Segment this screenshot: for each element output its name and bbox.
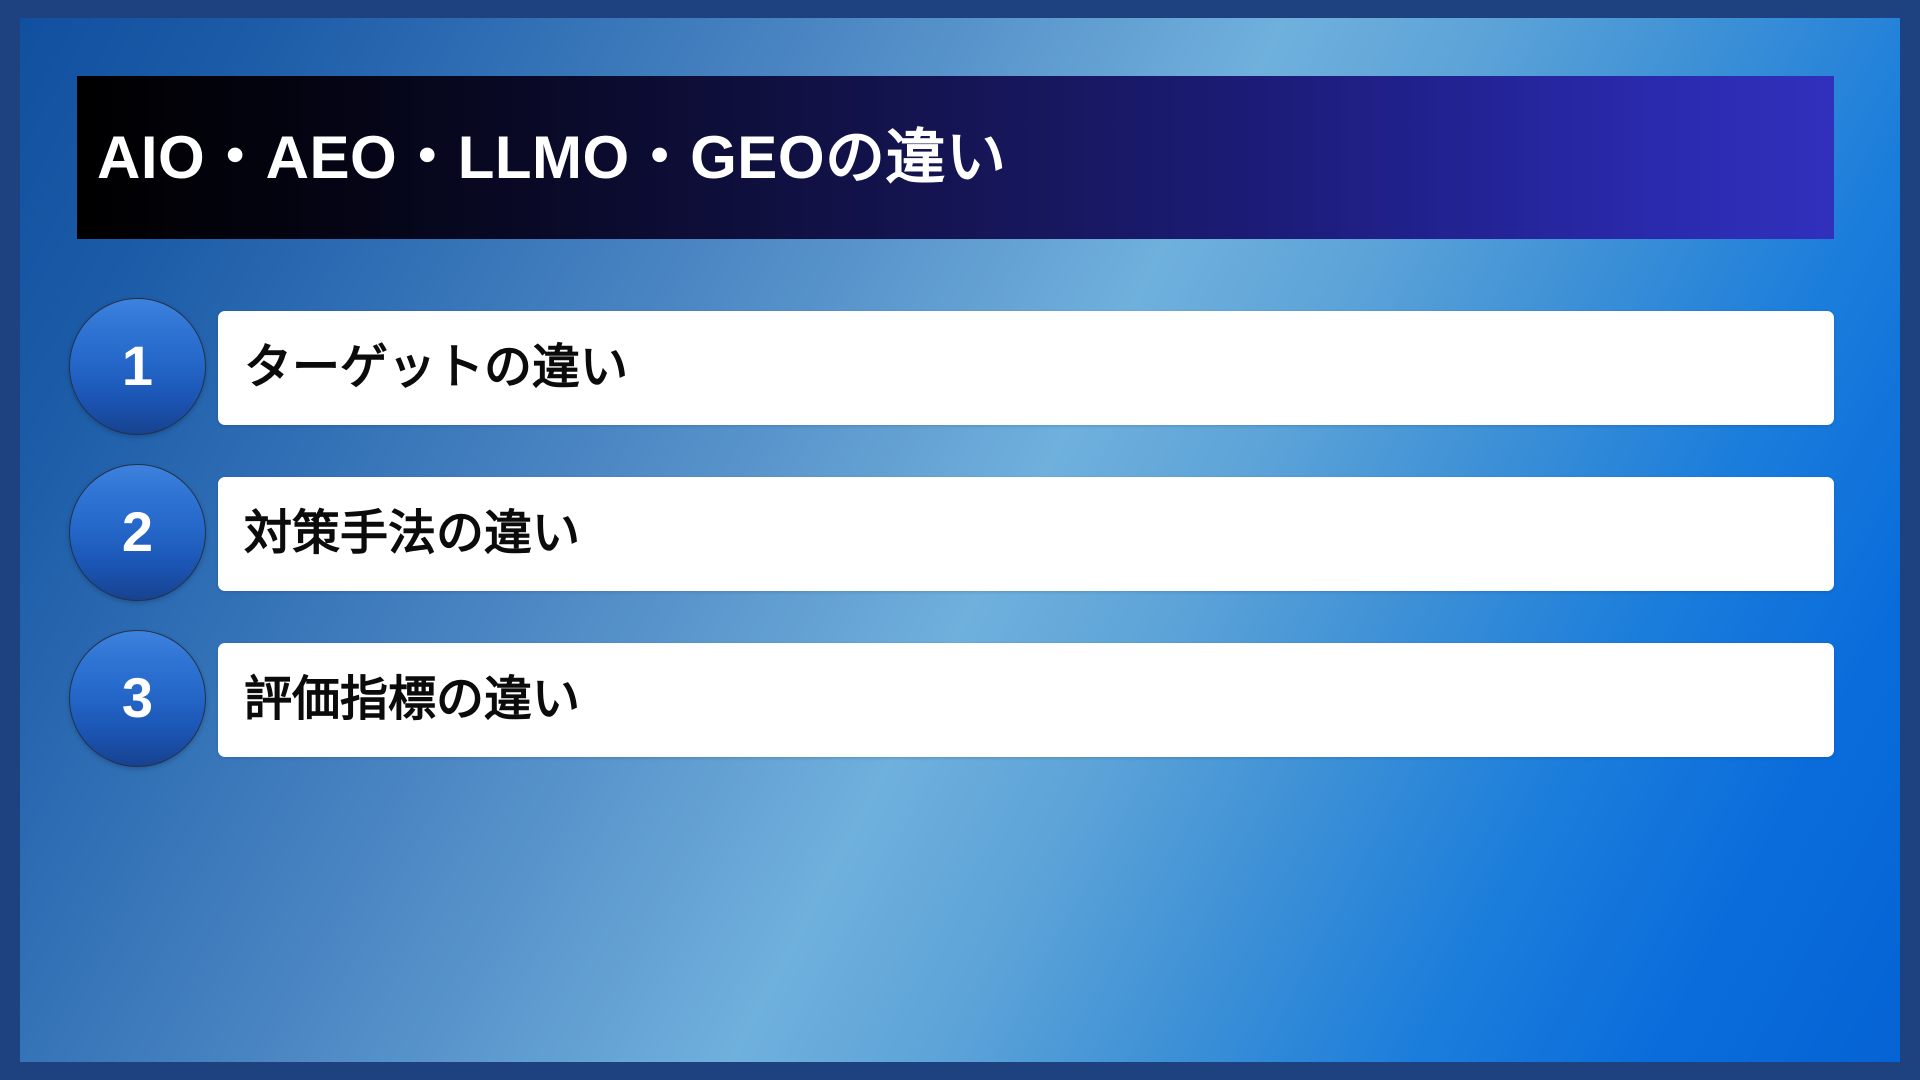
list-item-card[interactable]: ターゲットの違い bbox=[218, 311, 1834, 425]
slide-title-bar: AIO・AEO・LLMO・GEOの違い bbox=[77, 76, 1834, 239]
list-item-number-badge: 2 bbox=[69, 464, 206, 601]
list-item[interactable]: 1 ターゲットの違い bbox=[20, 298, 1900, 438]
list-item[interactable]: 3 評価指標の違い bbox=[20, 630, 1900, 770]
list-item-card[interactable]: 対策手法の違い bbox=[218, 477, 1834, 591]
numbered-list: 1 ターゲットの違い 2 対策手法の違い 3 評価指標の違い bbox=[20, 298, 1900, 796]
slide-outer-frame: AIO・AEO・LLMO・GEOの違い 1 ターゲットの違い 2 対策手法の違い bbox=[0, 0, 1920, 1080]
list-item-number-label: 2 bbox=[122, 504, 153, 562]
list-item-title: 対策手法の違い bbox=[218, 506, 580, 561]
page-title: AIO・AEO・LLMO・GEOの違い bbox=[77, 125, 1007, 191]
list-item-title: 評価指標の違い bbox=[218, 672, 580, 727]
list-item[interactable]: 2 対策手法の違い bbox=[20, 464, 1900, 604]
list-item-number-badge: 3 bbox=[69, 630, 206, 767]
slide-canvas: AIO・AEO・LLMO・GEOの違い 1 ターゲットの違い 2 対策手法の違い bbox=[20, 18, 1900, 1062]
list-item-number-badge: 1 bbox=[69, 298, 206, 435]
list-item-number-label: 1 bbox=[122, 338, 153, 396]
list-item-card[interactable]: 評価指標の違い bbox=[218, 643, 1834, 757]
list-item-number-label: 3 bbox=[122, 670, 153, 728]
list-item-title: ターゲットの違い bbox=[218, 340, 628, 395]
